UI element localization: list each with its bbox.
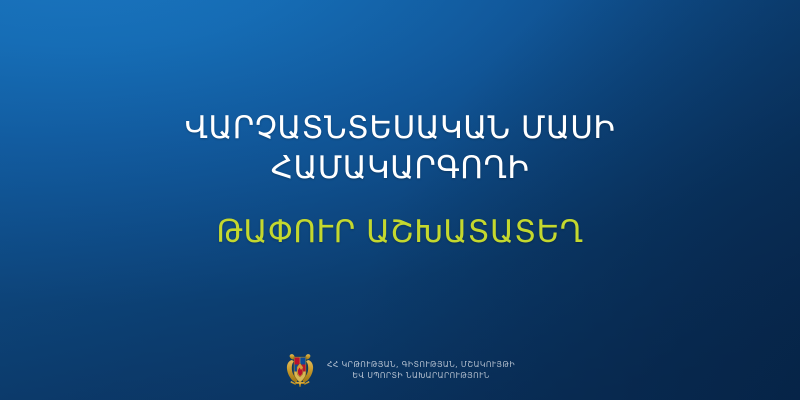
announcement-banner: ՎԱՐՉԱՏՆՏԵՍԱԿԱՆ ՄԱՍԻ ՀԱՄԱԿԱՐԳՈՂԻ ԹԱՓՈՒՐ Ա…	[0, 0, 800, 400]
headline-line-1: ՎԱՐՉԱՏՆՏԵՍԱԿԱՆ ՄԱՍԻ	[40, 108, 760, 148]
headline-block: ՎԱՐՉԱՏՆՏԵՍԱԿԱՆ ՄԱՍԻ ՀԱՄԱԿԱՐԳՈՂԻ ԹԱՓՈՒՐ Ա…	[0, 108, 800, 252]
headline-line-2: ՀԱՄԱԿԱՐԳՈՂԻ	[40, 148, 760, 188]
headline-accent-line: ԹԱՓՈՒՐ ԱՇԽԱՏԱՏԵՂ	[40, 212, 760, 252]
banner-content: ՎԱՐՉԱՏՆՏԵՍԱԿԱՆ ՄԱՍԻ ՀԱՄԱԿԱՐԳՈՂԻ ԹԱՓՈՒՐ Ա…	[0, 0, 800, 400]
